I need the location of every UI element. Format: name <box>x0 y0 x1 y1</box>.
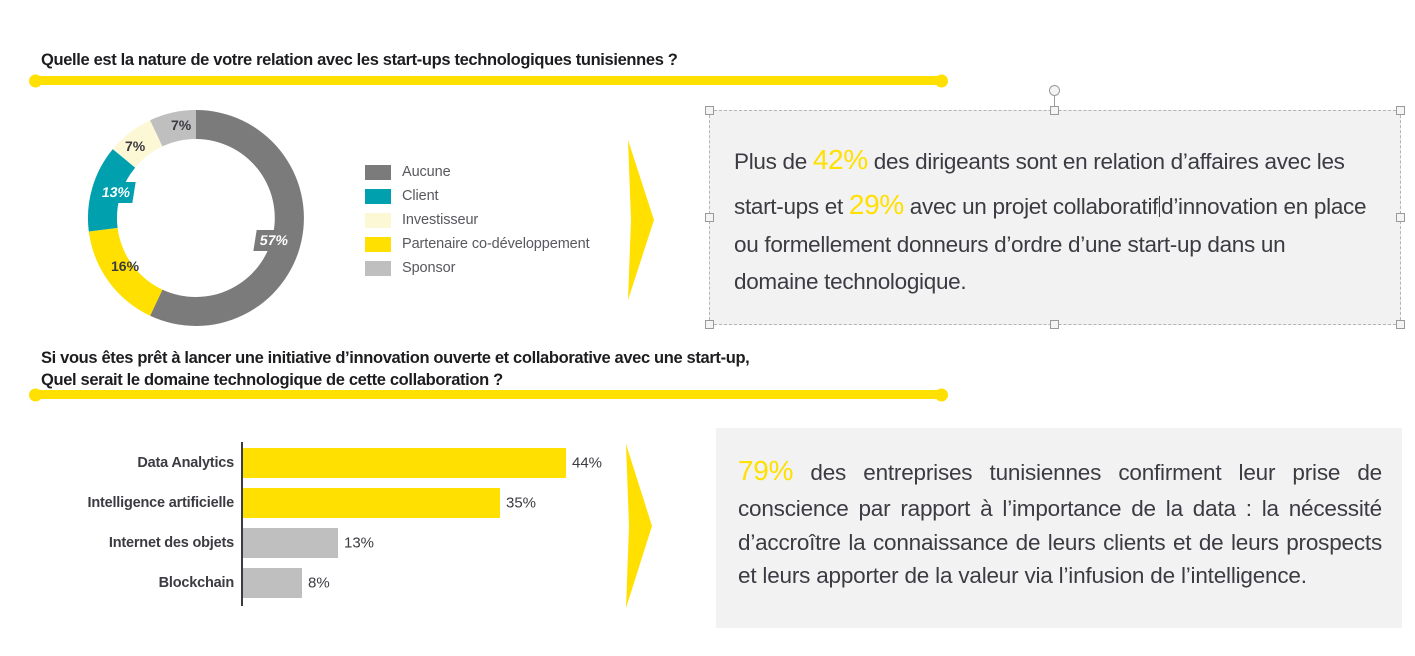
resize-handle-bottom-left[interactable] <box>705 320 714 329</box>
callout-1-highlight-42: 42% <box>813 144 868 175</box>
donut-value-aucune: 57% <box>253 230 293 251</box>
resize-handle-top-left[interactable] <box>705 106 714 115</box>
bar-value-label: 44% <box>572 455 602 472</box>
legend-label: Client <box>402 188 438 204</box>
heading-underline-2 <box>32 390 945 399</box>
bar-fill <box>243 528 338 558</box>
donut-value-investisseur: 7% <box>125 138 145 154</box>
callout-textbox-1[interactable]: Plus de 42% des dirigeants sont en relat… <box>709 110 1401 325</box>
legend-swatch-icon <box>365 165 391 180</box>
legend-item-aucune[interactable]: Aucune <box>365 160 590 184</box>
bar-value-label: 35% <box>506 495 536 512</box>
resize-handle-top-center[interactable] <box>1050 106 1059 115</box>
legend-item-client[interactable]: Client <box>365 184 590 208</box>
bar-row-intelligence-artificielle: Intelligence artificielle 35% <box>40 488 620 518</box>
callout-2-part1: des entreprises tunisiennes confirment l… <box>738 460 1382 588</box>
callout-1-part1: Plus de <box>734 149 813 174</box>
heading-underline-1 <box>32 76 945 85</box>
callout-1-text: Plus de 42% des dirigeants sont en relat… <box>734 137 1374 300</box>
callout-1-part3: avec un projet collaboratif <box>904 194 1158 219</box>
callout-2-text: 79% des entreprises tunisiennes confirme… <box>738 450 1382 593</box>
bar-value-label: 13% <box>344 535 374 552</box>
resize-handle-bottom-right[interactable] <box>1396 320 1405 329</box>
bar-category-label: Blockchain <box>159 575 234 591</box>
donut-legend: Aucune Client Investisseur Partenaire co… <box>365 160 590 280</box>
bar-fill <box>243 448 566 478</box>
bar-category-label: Data Analytics <box>137 455 234 471</box>
bar-category-label: Internet des objets <box>109 535 234 551</box>
donut-value-partenaire: 16% <box>111 258 139 274</box>
text-cursor <box>1159 196 1160 217</box>
donut-slice-aucune <box>150 110 304 326</box>
legend-item-sponsor[interactable]: Sponsor <box>365 256 590 280</box>
bar-fill <box>243 568 302 598</box>
rotate-handle[interactable] <box>1049 85 1060 96</box>
question-1-heading: Quelle est la nature de votre relation a… <box>41 50 678 72</box>
resize-handle-middle-right[interactable] <box>1396 213 1405 222</box>
bar-row-internet-des-objets: Internet des objets 13% <box>40 528 620 558</box>
bar-value-label: 8% <box>308 575 330 592</box>
legend-swatch-icon <box>365 261 391 276</box>
legend-swatch-icon <box>365 213 391 228</box>
resize-handle-bottom-center[interactable] <box>1050 320 1059 329</box>
bar-category-label: Intelligence artificielle <box>88 495 235 511</box>
bar-chart[interactable]: Data Analytics 44% Intelligence artifici… <box>40 440 620 610</box>
legend-label: Aucune <box>402 164 451 180</box>
resize-handle-top-right[interactable] <box>1396 106 1405 115</box>
legend-label: Sponsor <box>402 260 455 276</box>
callout-1-highlight-29: 29% <box>849 189 904 220</box>
donut-chart-svg <box>72 106 320 330</box>
question-2-heading: Si vous êtes prêt à lancer une initiativ… <box>41 348 749 392</box>
legend-label: Partenaire co-développement <box>402 236 590 252</box>
legend-item-partenaire[interactable]: Partenaire co-développement <box>365 232 590 256</box>
resize-handle-middle-left[interactable] <box>705 213 714 222</box>
donut-chart[interactable]: 57% 13% 7% 16% 7% <box>72 106 320 330</box>
legend-swatch-icon <box>365 237 391 252</box>
callout-textbox-2[interactable]: 79% des entreprises tunisiennes confirme… <box>716 428 1402 628</box>
bar-row-data-analytics: Data Analytics 44% <box>40 448 620 478</box>
chevron-arrow-icon-top <box>620 140 662 300</box>
bar-fill <box>243 488 500 518</box>
chevron-arrow-icon-bottom <box>618 444 660 608</box>
donut-value-sponsor: 7% <box>171 117 191 133</box>
callout-2-highlight-79: 79% <box>738 455 793 486</box>
bar-row-blockchain: Blockchain 8% <box>40 568 620 598</box>
legend-label: Investisseur <box>402 212 478 228</box>
legend-swatch-icon <box>365 189 391 204</box>
legend-item-investisseur[interactable]: Investisseur <box>365 208 590 232</box>
donut-value-client: 13% <box>95 182 135 203</box>
